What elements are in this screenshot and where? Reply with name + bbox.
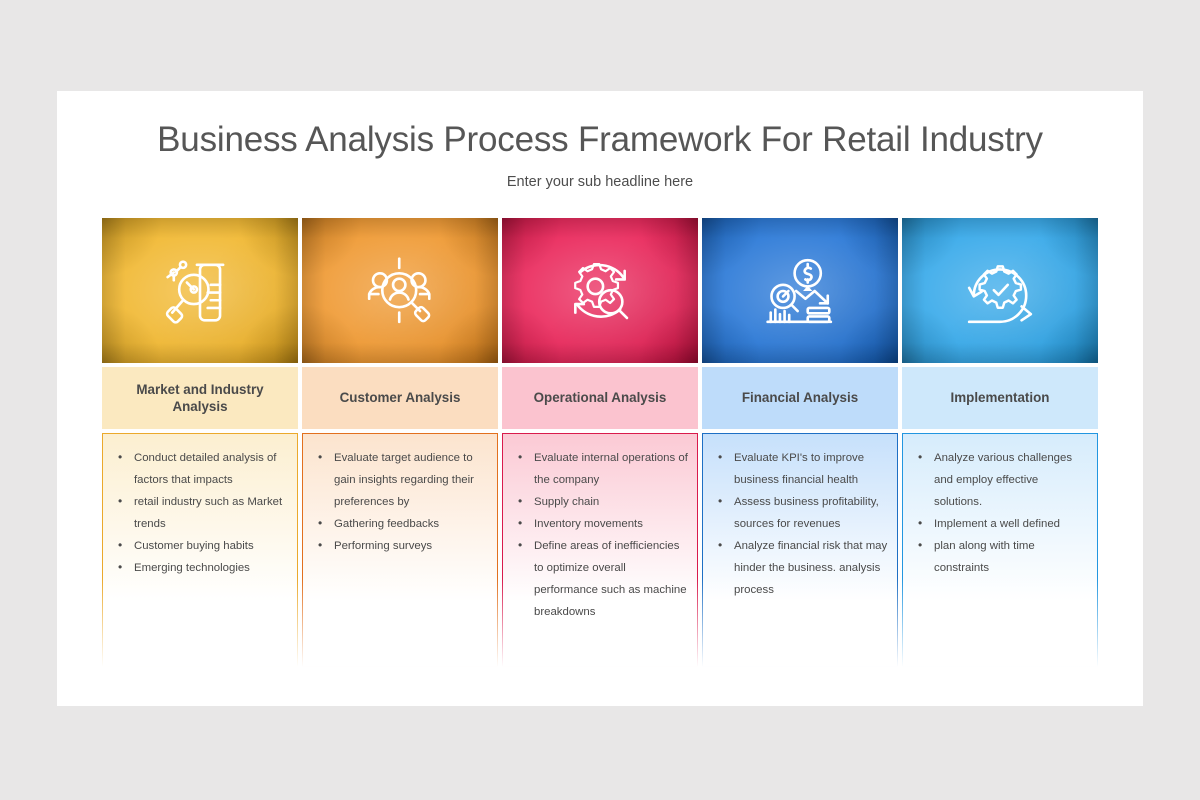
magnifier-test-tube-icon — [163, 254, 237, 328]
header-label: Financial Analysis — [742, 389, 858, 406]
magnifier-users-target-icon — [363, 254, 437, 328]
page-subtitle: Enter your sub headline here — [57, 174, 1143, 190]
column-implementation: ImplementationAnalyze various challenges… — [902, 218, 1098, 667]
financial-chart-dollar-icon — [763, 254, 837, 328]
bullet-item: Conduct detailed analysis of factors tha… — [112, 447, 288, 491]
bullet-item: Implement a well defined — [912, 513, 1088, 535]
bullet-item: Gathering feedbacks — [312, 513, 488, 535]
slide-canvas: Business Analysis Process Framework For … — [57, 91, 1143, 706]
header-band-financial-analysis[interactable]: Financial Analysis — [702, 367, 898, 429]
bullet-item: Evaluate target audience to gain insight… — [312, 447, 488, 513]
bullet-item: Emerging technologies — [112, 557, 288, 579]
framework-columns: Market and Industry AnalysisConduct deta… — [102, 218, 1099, 667]
header-band-operational-analysis[interactable]: Operational Analysis — [502, 367, 698, 429]
icon-tile-financial-analysis[interactable] — [702, 218, 898, 363]
bullet-panel-financial-analysis: Evaluate KPI's to improve business finan… — [702, 433, 898, 667]
bullet-list: Evaluate internal operations of the comp… — [512, 447, 688, 623]
header-band-customer-analysis[interactable]: Customer Analysis — [302, 367, 498, 429]
header-band-implementation[interactable]: Implementation — [902, 367, 1098, 429]
bullet-list: Conduct detailed analysis of factors tha… — [112, 447, 288, 579]
header-band-market-and-industry-analysis[interactable]: Market and Industry Analysis — [102, 367, 298, 429]
bullet-item: Customer buying habits — [112, 535, 288, 557]
column-financial-analysis: Financial AnalysisEvaluate KPI's to impr… — [702, 218, 898, 667]
bullet-panel-customer-analysis: Evaluate target audience to gain insight… — [302, 433, 498, 667]
page-title: Business Analysis Process Framework For … — [57, 120, 1143, 160]
bullet-panel-operational-analysis: Evaluate internal operations of the comp… — [502, 433, 698, 667]
bullet-item: Evaluate KPI's to improve business finan… — [712, 447, 888, 491]
bullet-item: Performing surveys — [312, 535, 488, 557]
icon-tile-implementation[interactable] — [902, 218, 1098, 363]
bullet-item: Supply chain — [512, 491, 688, 513]
bullet-panel-market-and-industry-analysis: Conduct detailed analysis of factors tha… — [102, 433, 298, 667]
bullet-item: Analyze financial risk that may hinder t… — [712, 535, 888, 601]
column-customer-analysis: Customer AnalysisEvaluate target audienc… — [302, 218, 498, 667]
icon-tile-operational-analysis[interactable] — [502, 218, 698, 363]
bullet-panel-implementation: Analyze various challenges and employ ef… — [902, 433, 1098, 667]
bullet-item: Inventory movements — [512, 513, 688, 535]
column-operational-analysis: Operational AnalysisEvaluate internal op… — [502, 218, 698, 667]
header-label: Operational Analysis — [534, 389, 667, 406]
bullet-item: retail industry such as Market trends — [112, 491, 288, 535]
bullet-list: Evaluate target audience to gain insight… — [312, 447, 488, 557]
header-label: Implementation — [951, 389, 1050, 406]
header-label: Market and Industry Analysis — [112, 381, 288, 415]
bullet-item: Assess business profitability, sources f… — [712, 491, 888, 535]
agile-loop-gear-check-icon — [963, 254, 1037, 328]
bullet-item: Define areas of inefficiencies to optimi… — [512, 535, 688, 623]
gear-magnifier-cycle-icon — [563, 254, 637, 328]
icon-tile-customer-analysis[interactable] — [302, 218, 498, 363]
bullet-item: Evaluate internal operations of the comp… — [512, 447, 688, 491]
bullet-item: plan along with time constraints — [912, 535, 1088, 579]
bullet-item: Analyze various challenges and employ ef… — [912, 447, 1088, 513]
icon-tile-market-and-industry-analysis[interactable] — [102, 218, 298, 363]
column-market-and-industry-analysis: Market and Industry AnalysisConduct deta… — [102, 218, 298, 667]
header-label: Customer Analysis — [340, 389, 461, 406]
bullet-list: Evaluate KPI's to improve business finan… — [712, 447, 888, 601]
bullet-list: Analyze various challenges and employ ef… — [912, 447, 1088, 579]
